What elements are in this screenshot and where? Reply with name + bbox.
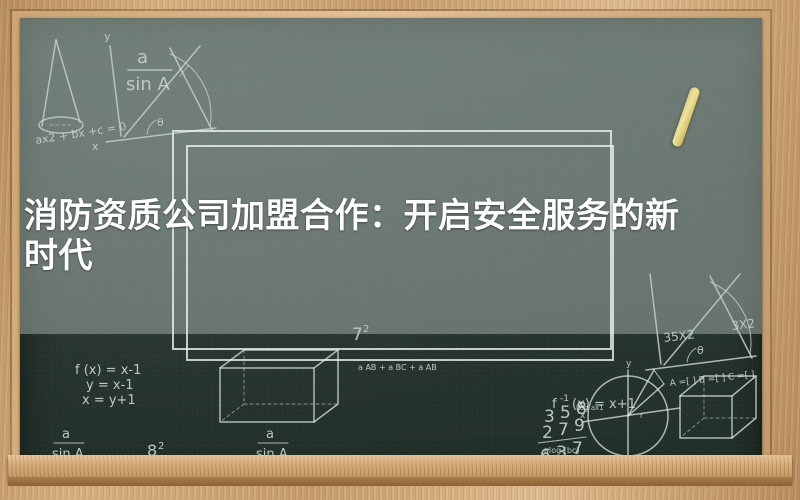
svg-text:A =[ ] B =[ ] C =[ ]: A =[ ] B =[ ] C =[ ] [669,370,755,389]
title-line-1: 消防资质公司加盟合作：开启安全服务的新 [24,197,680,235]
svg-text:f (x) = x-1: f (x) = x-1 [75,363,141,378]
matrix-equation: A =[ ] B =[ ] C =[ ] [669,370,755,389]
function-list: f (x) = x-1 y = x-1 x = y+1 [75,363,141,408]
chalkboard-poster: a sin A ax2 + bx +c = 0 y x θ [0,0,800,500]
svg-text:a: a [62,427,70,442]
log-identity-right: a AB + a BC + a AB [358,363,437,372]
svg-text:2: 2 [542,423,553,443]
chalk-ledge-lip [8,477,792,486]
page-title: 消防资质公司加盟合作：开启安全服务的新 时代 [24,196,752,276]
svg-text:2: 2 [158,441,164,452]
title-block: 消防资质公司加盟合作：开启安全服务的新 时代 [24,196,752,276]
svg-text:7: 7 [558,420,569,440]
svg-text:θ: θ [697,344,704,357]
chalkboard-surface: a sin A ax2 + bx +c = 0 y x θ [20,18,762,478]
svg-text:y: y [626,359,632,369]
svg-text:y = x-1: y = x-1 [86,378,134,393]
svg-text:a: a [266,427,274,442]
svg-text:x: x [580,411,586,421]
svg-text:r: r [640,411,644,420]
title-line-2: 时代 [24,237,93,275]
svg-text:x = y+1: x = y+1 [82,393,136,408]
